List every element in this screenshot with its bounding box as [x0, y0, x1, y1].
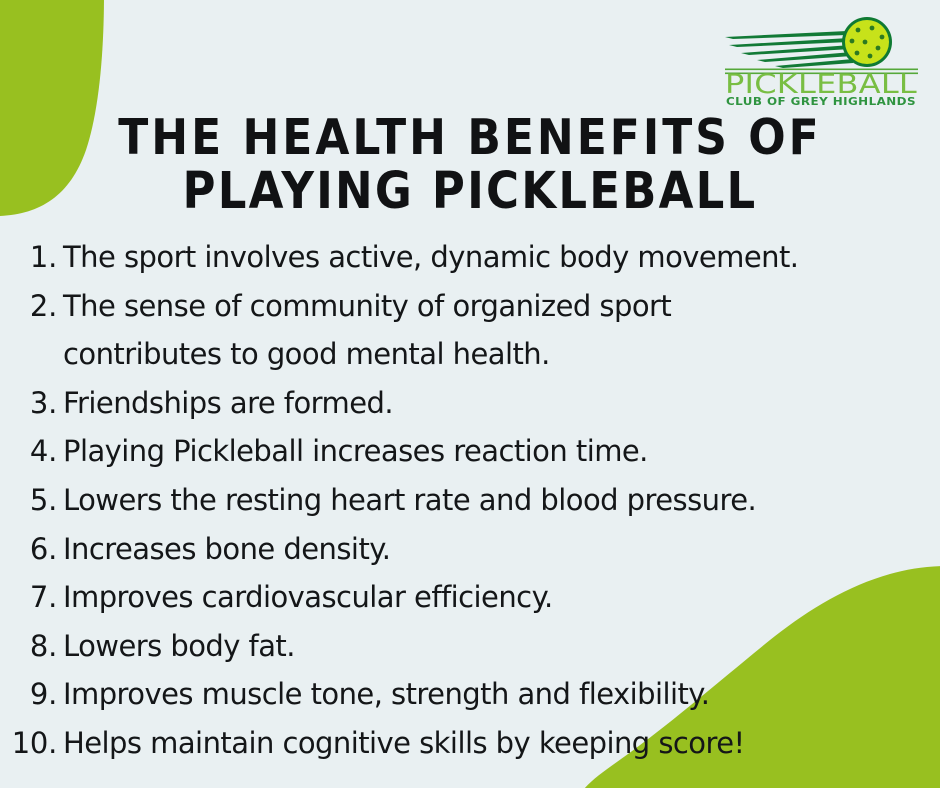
list-item-number: 2.: [0, 282, 57, 331]
list-item-number: 4.: [0, 427, 57, 476]
list-item-text: Playing Pickleball increases reaction ti…: [63, 427, 940, 476]
list-item: 6.Increases bone density.: [0, 525, 940, 574]
list-item: 7.Improves cardiovascular efficiency.: [0, 573, 940, 622]
list-item-number: 7.: [0, 573, 57, 622]
list-item-text: The sense of community of organized spor…: [63, 282, 940, 379]
list-item-number: 1.: [0, 233, 57, 282]
list-item: 8.Lowers body fat.: [0, 622, 940, 671]
title-line-2: PLAYING PICKLEBALL: [0, 161, 940, 220]
list-item-number: 9.: [0, 670, 57, 719]
list-item: 5.Lowers the resting heart rate and bloo…: [0, 476, 940, 525]
list-item: 9.Improves muscle tone, strength and fle…: [0, 670, 940, 719]
club-logo: PICKLEBALL CLUB OF GREY HIGHLANDS: [719, 8, 924, 108]
benefits-list: 1.The sport involves active, dynamic bod…: [0, 233, 940, 768]
list-item-text: Improves muscle tone, strength and flexi…: [63, 670, 940, 719]
list-item-text: Helps maintain cognitive skills by keepi…: [63, 719, 940, 768]
list-item-text: Lowers the resting heart rate and blood …: [63, 476, 940, 525]
list-item-number: 8.: [0, 622, 57, 671]
list-item-text: Friendships are formed.: [63, 379, 940, 428]
pickleball-ball-icon: [842, 17, 892, 67]
list-item: 1.The sport involves active, dynamic bod…: [0, 233, 940, 282]
list-item-number: 10.: [0, 719, 57, 768]
list-item-number: 3.: [0, 379, 57, 428]
list-item: 4.Playing Pickleball increases reaction …: [0, 427, 940, 476]
list-item-text: Increases bone density.: [63, 525, 940, 574]
list-item-number: 5.: [0, 476, 57, 525]
list-item: 3.Friendships are formed.: [0, 379, 940, 428]
speed-lines-icon: [725, 31, 853, 68]
title-line-1: THE HEALTH BENEFITS OF: [0, 108, 940, 167]
poster: PICKLEBALL CLUB OF GREY HIGHLANDS THE HE…: [0, 0, 940, 788]
list-item-text: The sport involves active, dynamic body …: [63, 233, 940, 282]
list-item-text: Improves cardiovascular efficiency.: [63, 573, 940, 622]
list-item: 10.Helps maintain cognitive skills by ke…: [0, 719, 940, 768]
logo-tagline-text: CLUB OF GREY HIGHLANDS: [726, 95, 916, 108]
list-item-number: 6.: [0, 525, 57, 574]
list-item: 2.The sense of community of organized sp…: [0, 282, 940, 379]
list-item-text: Lowers body fat.: [63, 622, 940, 671]
page-title: THE HEALTH BENEFITS OF PLAYING PICKLEBAL…: [0, 108, 940, 214]
